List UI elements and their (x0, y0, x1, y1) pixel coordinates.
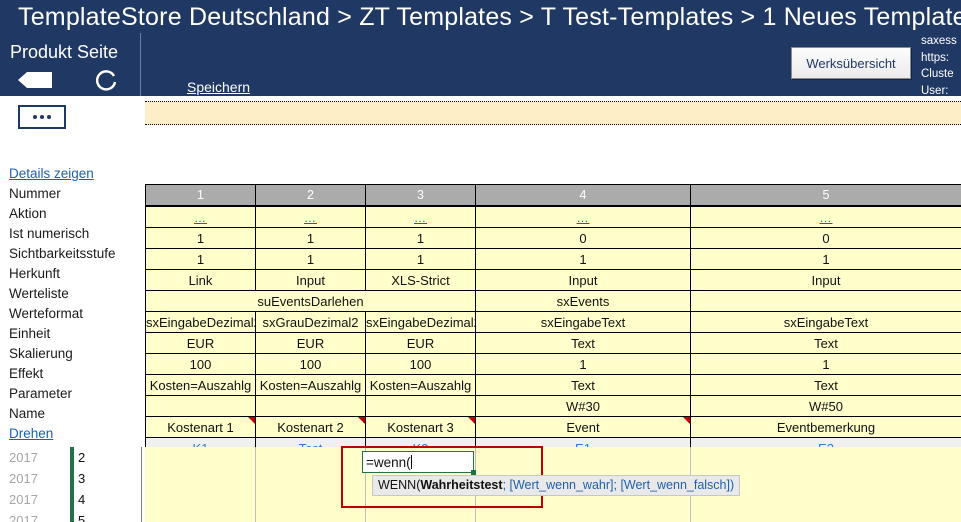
cell-einheit-3[interactable]: EUR (366, 333, 476, 354)
row-label-effekt: Effekt (9, 364, 139, 384)
band-divider (140, 33, 141, 96)
cell-sichtbarkeit-1[interactable]: 1 (146, 249, 256, 270)
row-label-werteformat: Werteformat (9, 304, 139, 324)
row-label-skalierung: Skalierung (9, 344, 139, 364)
cell-name-1[interactable]: Kostenart 1 (146, 417, 256, 438)
session-info-line-2: Cluste (921, 66, 961, 83)
cell-sichtbarkeit-3[interactable]: 1 (366, 249, 476, 270)
period-value-1: 3 (78, 468, 85, 489)
breadcrumb: TemplateStore Deutschland > ZT Templates… (18, 2, 961, 32)
table-row-werteformat: sxEingabeDezimal2 sxGrauDezimal2 sxEinga… (146, 312, 961, 333)
tooltip-active-argument: Wahrheitstest (420, 478, 502, 492)
cell-name-3[interactable]: Kostenart 3 (366, 417, 476, 438)
cell-skalierung-5[interactable]: 1 (691, 354, 961, 375)
refresh-icon[interactable] (94, 68, 120, 94)
cell-herkunft-2[interactable]: Input (256, 270, 366, 291)
column-header-5[interactable]: 5 (691, 185, 961, 207)
cell-aktion-4[interactable]: … (476, 206, 691, 228)
table-row-ist-numerisch: 1 1 1 0 0 (146, 228, 961, 249)
year-row-1[interactable]: 2017 3 (0, 468, 141, 489)
year-row-0[interactable]: 2017 2 (0, 447, 141, 468)
row-label-ist-numerisch: Ist numerisch (9, 224, 139, 244)
table-row-parameter: W#30 W#50 (146, 396, 961, 417)
cell-name-2[interactable]: Kostenart 2 (256, 417, 366, 438)
year-value-0: 2017 (9, 447, 38, 468)
cell-aktion-3[interactable]: … (366, 206, 476, 228)
cell-effekt-1[interactable]: Kosten=Auszahlg (146, 375, 256, 396)
cell-effekt-5[interactable]: Text (691, 375, 961, 396)
cell-sichtbarkeit-5[interactable]: 1 (691, 249, 961, 270)
row-label-nummer: Nummer (9, 184, 139, 204)
cell-parameter-3[interactable] (366, 396, 476, 417)
cell-herkunft-3[interactable]: XLS-Strict (366, 270, 476, 291)
cell-parameter-5[interactable]: W#50 (691, 396, 961, 417)
cell-skalierung-4[interactable]: 1 (476, 354, 691, 375)
cell-skalierung-2[interactable]: 100 (256, 354, 366, 375)
year-column: 2017 2 2017 3 2017 4 2017 5 (0, 447, 142, 522)
cell-herkunft-4[interactable]: Input (476, 270, 691, 291)
cell-werteformat-1[interactable]: sxEingabeDezimal2 (146, 312, 256, 333)
year-row-2[interactable]: 2017 4 (0, 489, 141, 510)
column-header-1[interactable]: 1 (146, 185, 256, 207)
session-info-line-1: https: (921, 50, 961, 67)
row-label-werteliste: Werteliste (9, 284, 139, 304)
row-label-sichtbarkeitsstufe: Sichtbarkeitsstufe (9, 244, 139, 264)
row-label-drehen[interactable]: Drehen (9, 424, 139, 444)
lower-grid-divider-1 (255, 447, 256, 522)
cell-effekt-3[interactable]: Kosten=Auszahlg (366, 375, 476, 396)
template-grid: 1 2 3 4 5 … … … … … 1 1 1 0 (145, 184, 961, 460)
table-row-werteliste: suEventsDarlehen sxEvents (146, 291, 961, 312)
more-options-icon[interactable] (18, 105, 66, 129)
cell-werteliste-4[interactable]: sxEvents (476, 291, 691, 312)
formula-cell-editor[interactable]: =wenn( (362, 451, 474, 473)
table-row-aktion: … … … … … (146, 206, 961, 228)
table-row-einheit: EUR EUR EUR Text Text (146, 333, 961, 354)
cell-ist-numerisch-3[interactable]: 1 (366, 228, 476, 249)
formula-text: =wenn( (366, 455, 411, 470)
cell-herkunft-5[interactable]: Input (691, 270, 961, 291)
formula-autocomplete-tooltip: WENN(Wahrheitstest; [Wert_wenn_wahr]; [W… (372, 475, 740, 496)
year-row-3[interactable]: 2017 5 (0, 510, 141, 522)
session-info: saxess https: Cluste User: (921, 33, 961, 99)
cell-aktion-5[interactable]: … (691, 206, 961, 228)
cell-einheit-4[interactable]: Text (476, 333, 691, 354)
column-header-4[interactable]: 4 (476, 185, 691, 207)
cell-ist-numerisch-4[interactable]: 0 (476, 228, 691, 249)
excel-template-editor: TemplateStore Deutschland > ZT Templates… (0, 0, 961, 522)
cell-sichtbarkeit-2[interactable]: 1 (256, 249, 366, 270)
cell-ist-numerisch-2[interactable]: 1 (256, 228, 366, 249)
cell-sichtbarkeit-4[interactable]: 1 (476, 249, 691, 270)
cell-skalierung-3[interactable]: 100 (366, 354, 476, 375)
tooltip-remaining-args: ; [Wert_wenn_wahr]; [Wert_wenn_falsch]) (503, 478, 735, 492)
cell-ist-numerisch-5[interactable]: 0 (691, 228, 961, 249)
cell-einheit-1[interactable]: EUR (146, 333, 256, 354)
session-info-line-0: saxess (921, 33, 961, 50)
row-label-aktion: Aktion (9, 204, 139, 224)
column-header-2[interactable]: 2 (256, 185, 366, 207)
cell-aktion-1[interactable]: … (146, 206, 256, 228)
cell-skalierung-1[interactable]: 100 (146, 354, 256, 375)
table-row-effekt: Kosten=Auszahlg Kosten=Auszahlg Kosten=A… (146, 375, 961, 396)
details-zeigen-link[interactable]: Details zeigen (9, 166, 94, 181)
year-value-2: 2017 (9, 489, 38, 510)
save-button[interactable]: Speichern (187, 79, 250, 95)
werksuebersicht-button[interactable]: Werksübersicht (791, 47, 911, 79)
row-label-list: Nummer Aktion Ist numerisch Sichtbarkeit… (9, 184, 139, 444)
table-row-name: Kostenart 1 Kostenart 2 Kostenart 3 Even… (146, 417, 961, 438)
top-highlight-band (145, 101, 961, 125)
period-value-2: 4 (78, 489, 85, 510)
lower-grid-row-3[interactable] (145, 510, 961, 522)
row-label-herkunft: Herkunft (9, 264, 139, 284)
cell-herkunft-1[interactable]: Link (146, 270, 256, 291)
text-caret (411, 455, 412, 469)
period-value-0: 2 (78, 447, 85, 468)
cell-parameter-1[interactable] (146, 396, 256, 417)
cell-effekt-2[interactable]: Kosten=Auszahlg (256, 375, 366, 396)
period-value-3: 5 (78, 510, 85, 522)
cell-werteliste-1[interactable]: suEventsDarlehen (146, 291, 476, 312)
cell-parameter-2[interactable] (256, 396, 366, 417)
cell-parameter-4[interactable]: W#30 (476, 396, 691, 417)
table-row-skalierung: 100 100 100 1 1 (146, 354, 961, 375)
cell-aktion-2[interactable]: … (256, 206, 366, 228)
row-label-name: Name (9, 404, 139, 424)
row-label-einheit: Einheit (9, 324, 139, 344)
year-value-1: 2017 (9, 468, 38, 489)
page-title: Produkt Seite (10, 42, 118, 63)
cell-werteformat-4[interactable]: sxEingabeText (476, 312, 691, 333)
table-row-herkunft: Link Input XLS-Strict Input Input (146, 270, 961, 291)
cell-name-4[interactable]: Event (476, 417, 691, 438)
app-header: TemplateStore Deutschland > ZT Templates… (0, 0, 961, 33)
cell-werteliste-5[interactable] (691, 291, 961, 312)
lower-grid-row-0[interactable] (145, 447, 961, 469)
tooltip-function-name: WENN( (378, 478, 420, 492)
cell-werteformat-5[interactable]: sxEingabeText (691, 312, 961, 333)
row-label-parameter: Parameter (9, 384, 139, 404)
table-row-sichtbarkeitsstufe: 1 1 1 1 1 (146, 249, 961, 270)
cell-werteformat-2[interactable]: sxGrauDezimal2 (256, 312, 366, 333)
cell-einheit-2[interactable]: EUR (256, 333, 366, 354)
column-header-3[interactable]: 3 (366, 185, 476, 207)
cell-ist-numerisch-1[interactable]: 1 (146, 228, 256, 249)
cell-einheit-5[interactable]: Text (691, 333, 961, 354)
cell-werteformat-3[interactable]: sxEingabeDezimal2 (366, 312, 476, 333)
cell-effekt-4[interactable]: Text (476, 375, 691, 396)
cell-name-5[interactable]: Eventbemerkung (691, 417, 961, 438)
year-value-3: 2017 (9, 510, 38, 522)
back-arrow-icon[interactable] (18, 70, 52, 90)
table-header-row: 1 2 3 4 5 (146, 185, 961, 207)
